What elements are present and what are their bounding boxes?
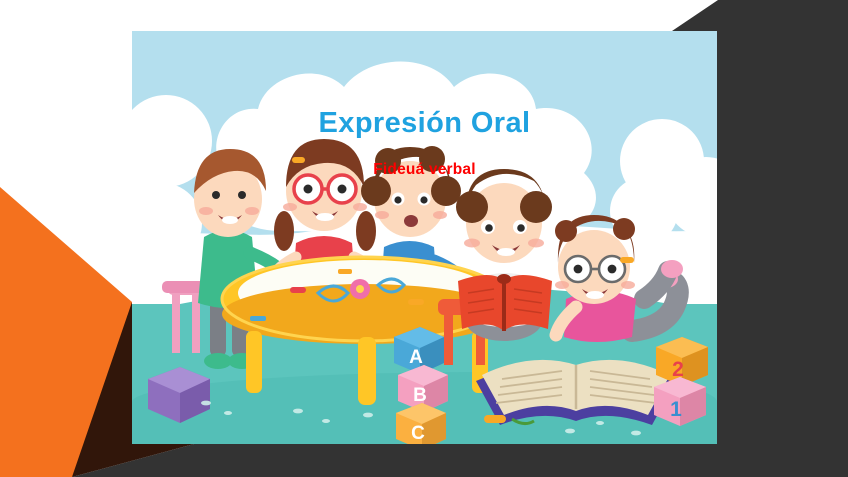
- purple-block: [148, 367, 210, 423]
- svg-text:C: C: [411, 423, 425, 444]
- yellow-table: [222, 257, 506, 405]
- abc-blocks: A B C: [394, 327, 448, 444]
- svg-text:1: 1: [670, 398, 682, 421]
- title-block: Expresión Oral Fideuá verbal: [132, 108, 717, 179]
- svg-text:B: B: [413, 385, 427, 406]
- page-title: Expresión Oral: [132, 108, 717, 140]
- svg-text:A: A: [409, 347, 423, 368]
- orange-corner-shape: [0, 187, 132, 477]
- open-book: [476, 360, 676, 425]
- child-girl-pink-shirt: [555, 215, 683, 342]
- child-boy-red-book: [456, 169, 552, 341]
- page-subtitle: Fideuá verbal: [132, 161, 717, 179]
- presentation-slide: A B C: [0, 0, 848, 477]
- slide-illustration: A B C: [132, 31, 717, 444]
- children-artwork: A B C: [132, 31, 717, 444]
- svg-text:2: 2: [672, 358, 684, 381]
